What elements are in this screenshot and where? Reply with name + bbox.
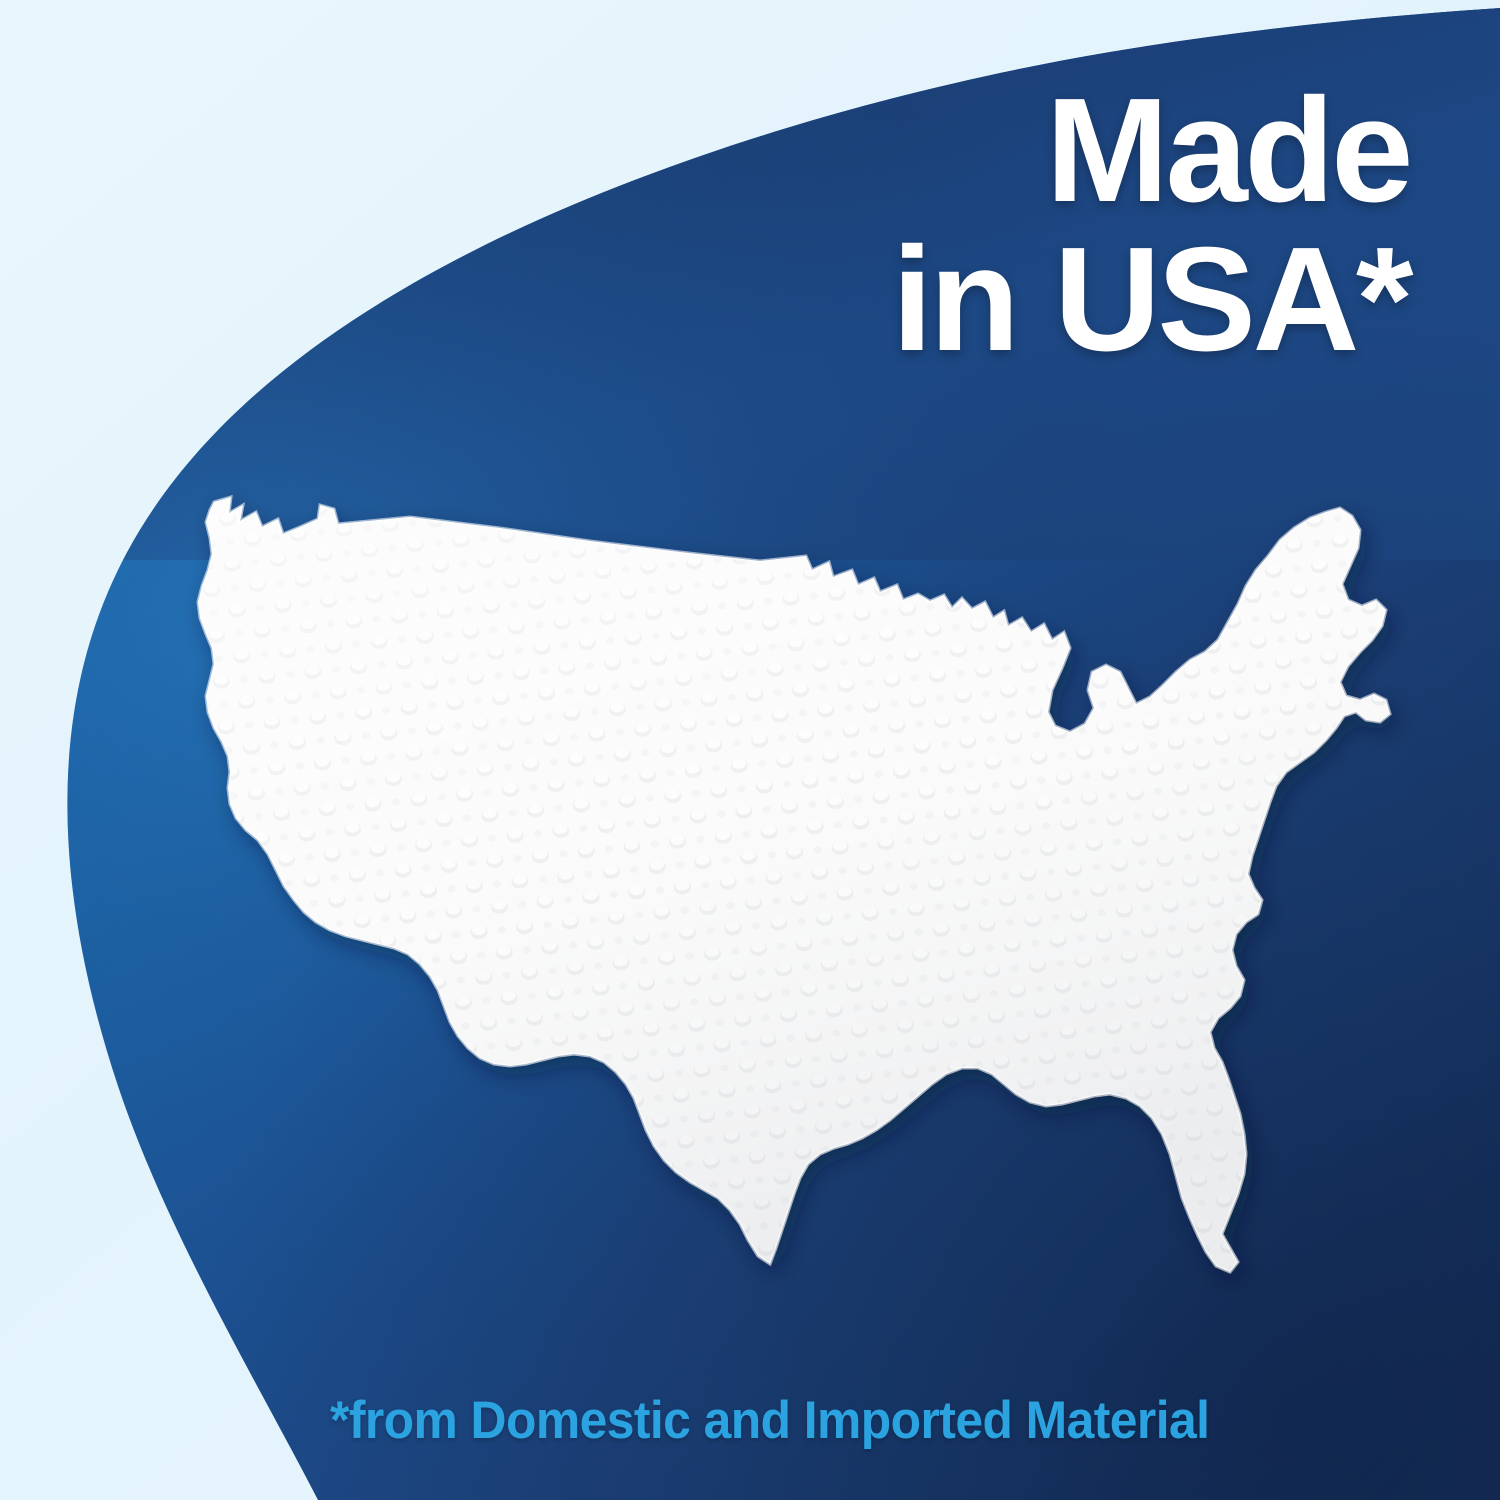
headline-line-1: Made — [620, 78, 1410, 223]
page-title: Made in USA* — [620, 78, 1410, 372]
made-in-usa-banner: Made in USA* *from Domestic and Imported… — [0, 0, 1500, 1500]
headline-line-2: in USA* — [620, 227, 1410, 372]
disclaimer-text: *from Domestic and Imported Material — [330, 1394, 1383, 1447]
